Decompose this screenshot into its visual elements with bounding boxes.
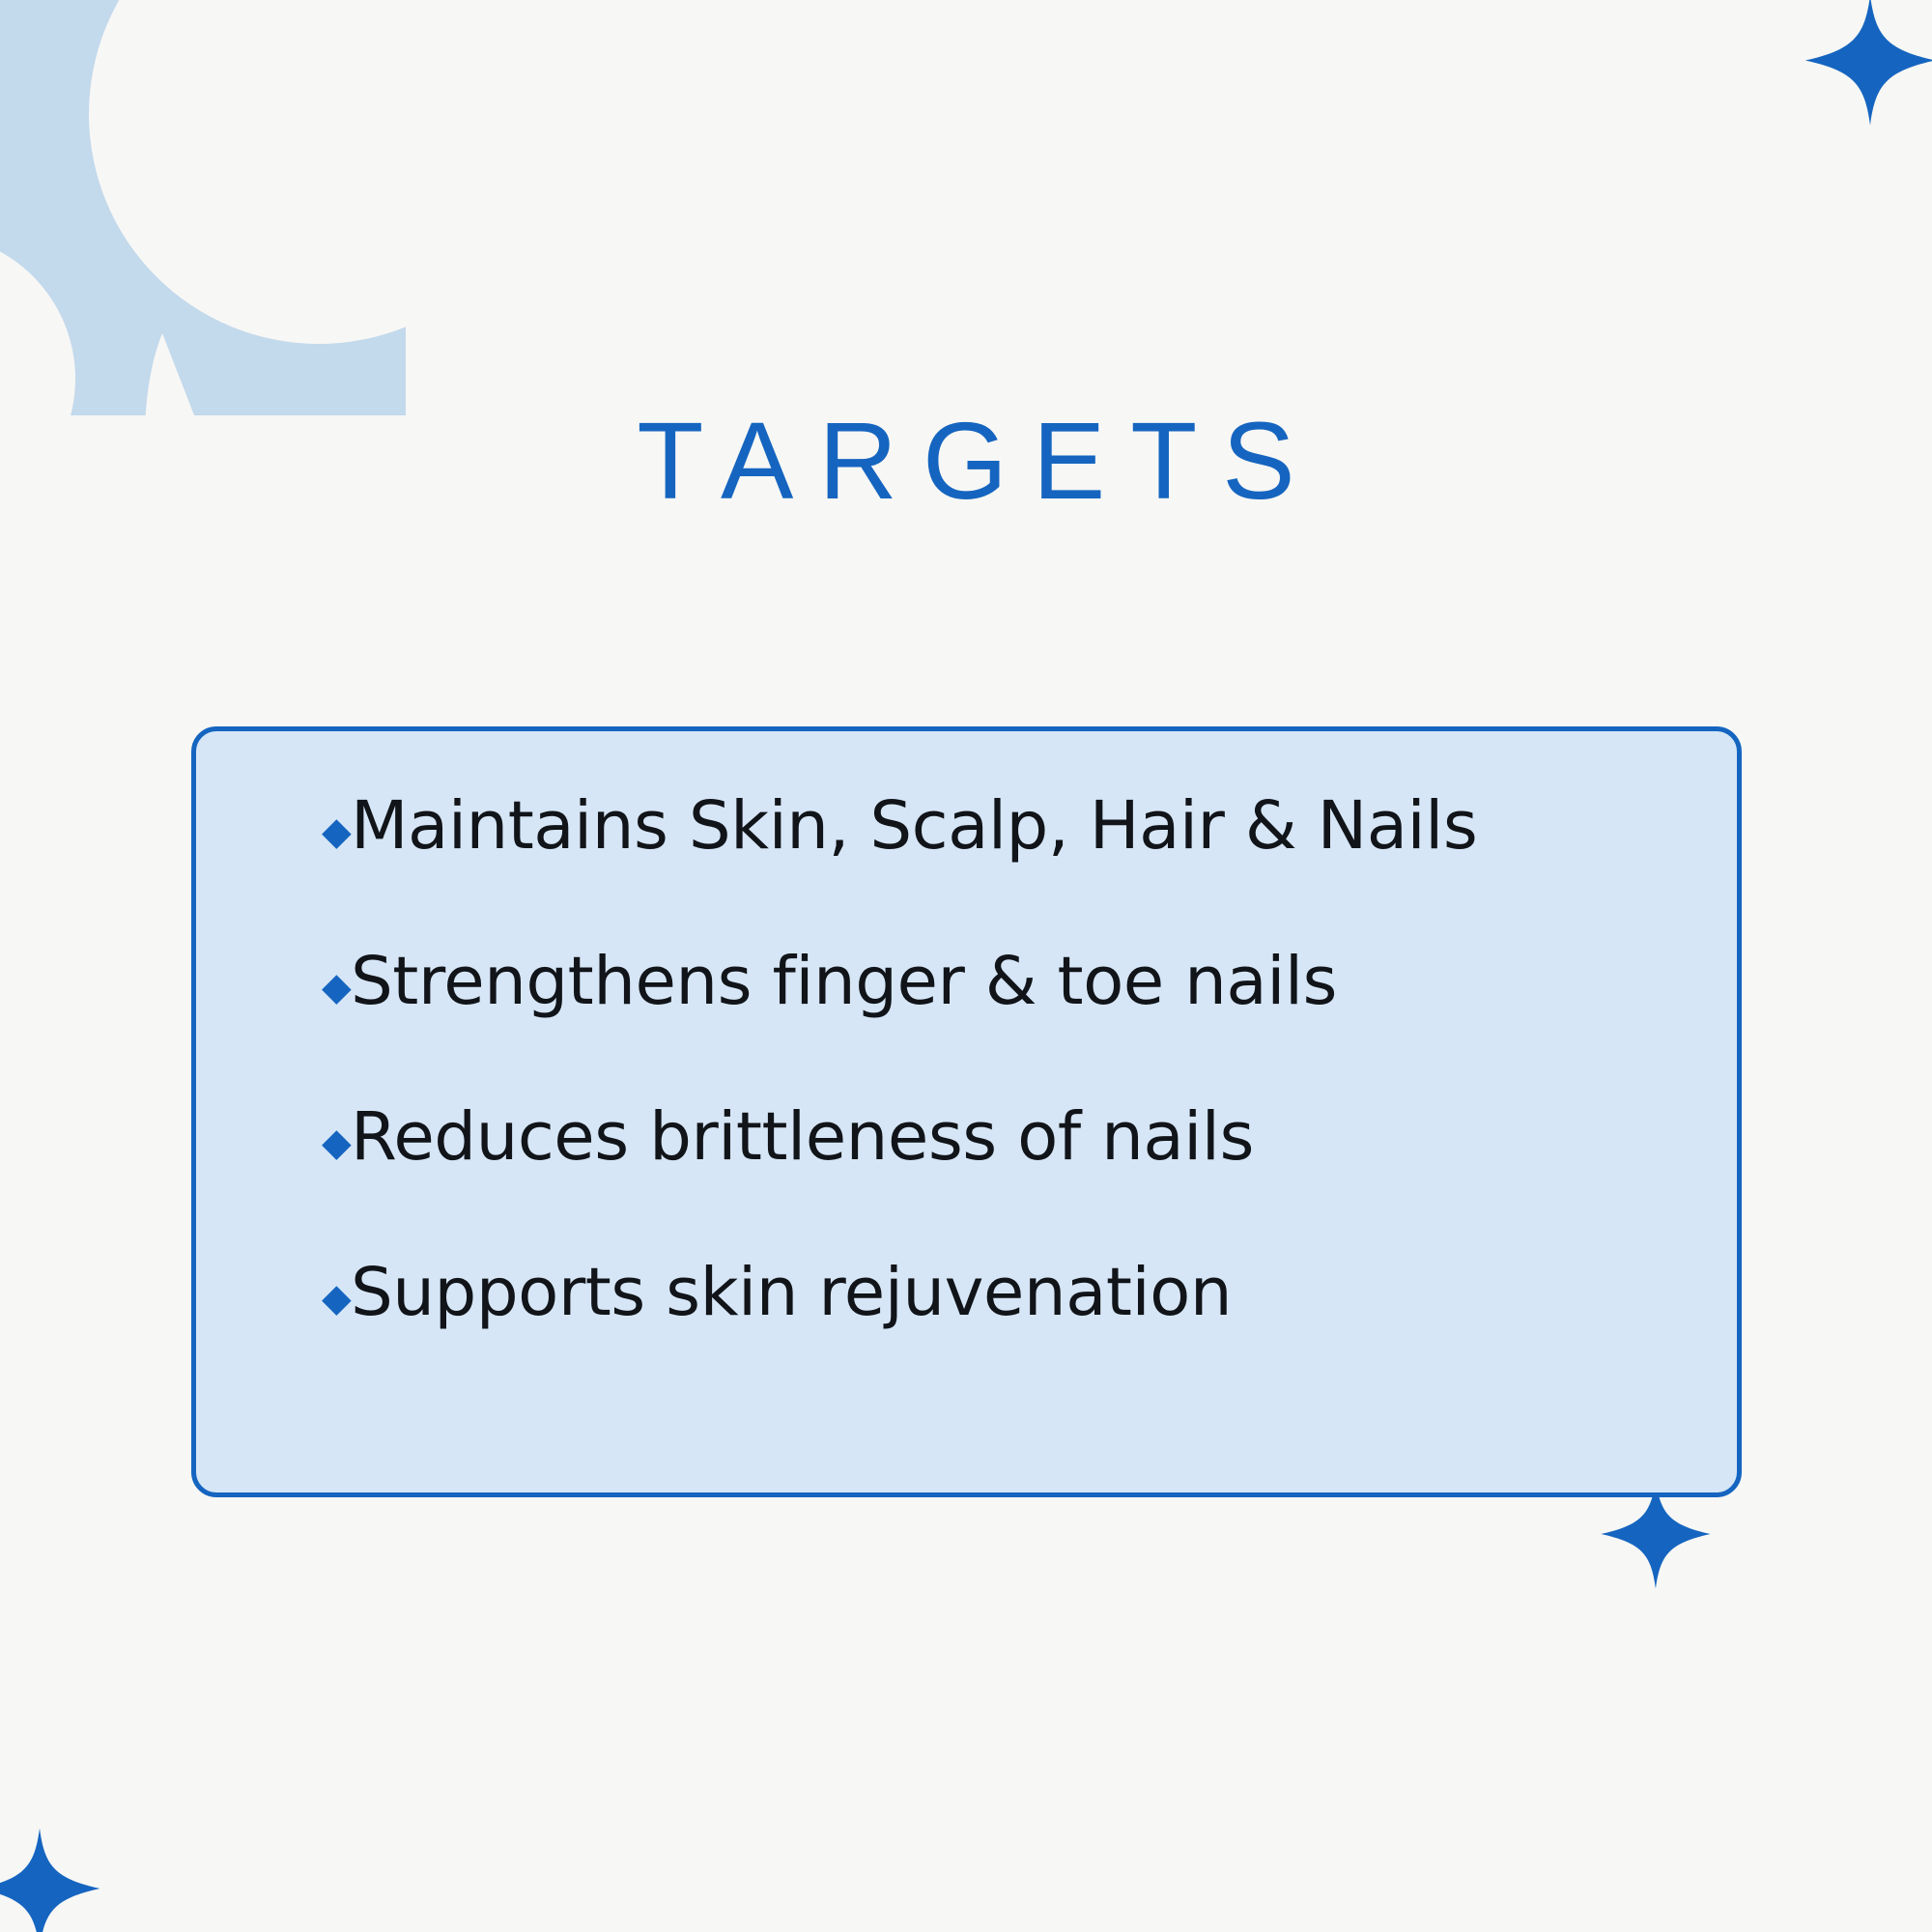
diamond-bullet-icon: ◆ xyxy=(322,1279,351,1318)
diamond-bullet-icon: ◆ xyxy=(322,812,351,851)
list-item: ◆ Supports skin rejuvenation xyxy=(322,1260,1679,1326)
targets-card: ◆ Maintains Skin, Scalp, Hair & Nails ◆ … xyxy=(191,726,1742,1497)
list-item-label: Reduces brittleness of nails xyxy=(351,1104,1254,1171)
sparkle-icon xyxy=(1803,0,1932,130)
corner-blob-decoration xyxy=(0,0,406,425)
corner-blob-icon xyxy=(0,0,406,425)
list-item-label: Strengthens finger & toe nails xyxy=(351,949,1337,1015)
page-title: TARGETS xyxy=(0,401,1932,521)
list-item: ◆ Reduces brittleness of nails xyxy=(322,1104,1679,1171)
slide-canvas: TARGETS ◆ Maintains Skin, Scalp, Hair & … xyxy=(0,0,1932,1932)
list-item: ◆ Maintains Skin, Scalp, Hair & Nails xyxy=(322,793,1679,860)
targets-list: ◆ Maintains Skin, Scalp, Hair & Nails ◆ … xyxy=(322,793,1679,1326)
list-item-label: Maintains Skin, Scalp, Hair & Nails xyxy=(351,793,1477,860)
list-item: ◆ Strengthens finger & toe nails xyxy=(322,949,1679,1015)
diamond-bullet-icon: ◆ xyxy=(322,968,351,1007)
diamond-bullet-icon: ◆ xyxy=(322,1123,351,1162)
list-item-label: Supports skin rejuvenation xyxy=(351,1260,1232,1326)
sparkle-icon xyxy=(0,1824,102,1932)
